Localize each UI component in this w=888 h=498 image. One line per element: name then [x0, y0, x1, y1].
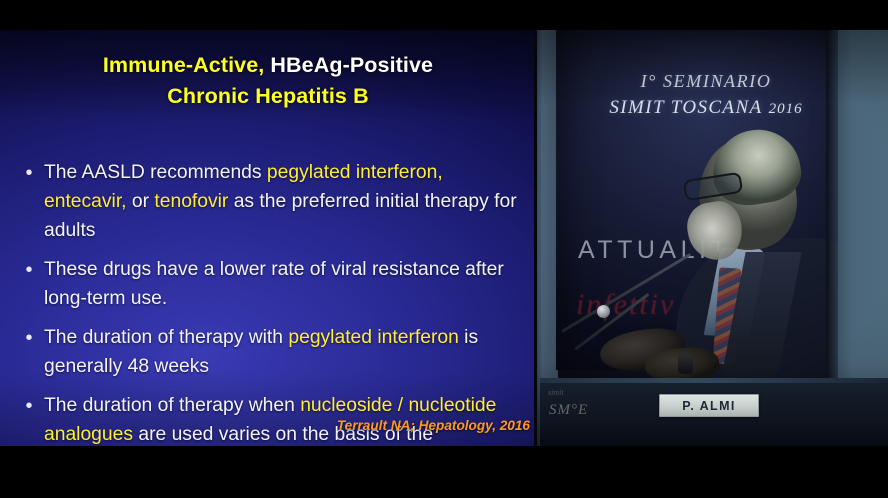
bullet-text: These drugs have a lower rate of viral r… — [44, 255, 530, 313]
slide-title-part-white: HBeAg-Positive — [264, 53, 433, 77]
bullet-highlight: entecavir, — [44, 191, 127, 212]
slide-title-part-yellow: Immune-Active, — [103, 53, 265, 77]
screenshot-root: Immune-Active, HBeAg-Positive Chronic He… — [0, 0, 888, 498]
bullet-seg: The duration of therapy when — [44, 395, 300, 416]
banner-title-year: 2016 — [769, 101, 803, 117]
slide-bullet-item: • The AASLD recommends pegylated interfe… — [14, 158, 530, 245]
speaker-nameplate-label: P. ALMI — [682, 399, 736, 413]
slide-title: Immune-Active, HBeAg-Positive Chronic He… — [0, 50, 536, 112]
bullet-marker-icon: • — [14, 323, 44, 381]
bullet-highlight: pegylated interferon, — [267, 162, 443, 183]
banner-title: I° SEMINARIO SIMIT TOSCANA 2016 — [556, 68, 856, 122]
slide-bullet-list: • The AASLD recommends pegylated interfe… — [14, 158, 530, 446]
letterbox-bottom — [0, 446, 888, 498]
bullet-seg: These drugs have a lower rate of viral r… — [44, 259, 504, 309]
bullet-seg: The AASLD recommends — [44, 162, 267, 183]
slide-bullet-item: • The duration of therapy with pegylated… — [14, 323, 530, 381]
banner-title-line1: I° SEMINARIO — [641, 71, 772, 91]
presentation-slide: Immune-Active, HBeAg-Positive Chronic He… — [0, 30, 536, 446]
microphone-head-icon — [597, 305, 610, 318]
bullet-marker-icon: • — [14, 158, 44, 245]
slide-title-line2: Chronic Hepatitis B — [167, 84, 368, 108]
bullet-highlight: tenofovir — [154, 191, 228, 212]
bullet-text: The duration of therapy with pegylated i… — [44, 323, 530, 381]
bullet-seg: or — [127, 191, 155, 212]
bullet-marker-icon: • — [14, 255, 44, 313]
bullet-text: The AASLD recommends pegylated interfero… — [44, 158, 530, 245]
slide-citation: Terrault NA; Hepatology, 2016 — [10, 418, 530, 433]
bullet-seg: The duration of therapy with — [44, 327, 288, 348]
banner-title-line2: SIMIT TOSCANA — [609, 97, 762, 118]
podium-logo-small: simit — [548, 388, 564, 397]
video-frame: Immune-Active, HBeAg-Positive Chronic He… — [0, 30, 888, 446]
bullet-highlight: pegylated interferon — [288, 327, 458, 348]
podium-logo: SM°E — [549, 402, 588, 419]
speaker-nameplate: P. ALMI — [659, 394, 759, 417]
speaker-wristwatch — [678, 354, 693, 374]
podium-surface-edge — [540, 378, 888, 383]
letterbox-top — [0, 0, 888, 30]
frame-seam — [534, 30, 537, 446]
slide-bullet-item: • These drugs have a lower rate of viral… — [14, 255, 530, 313]
